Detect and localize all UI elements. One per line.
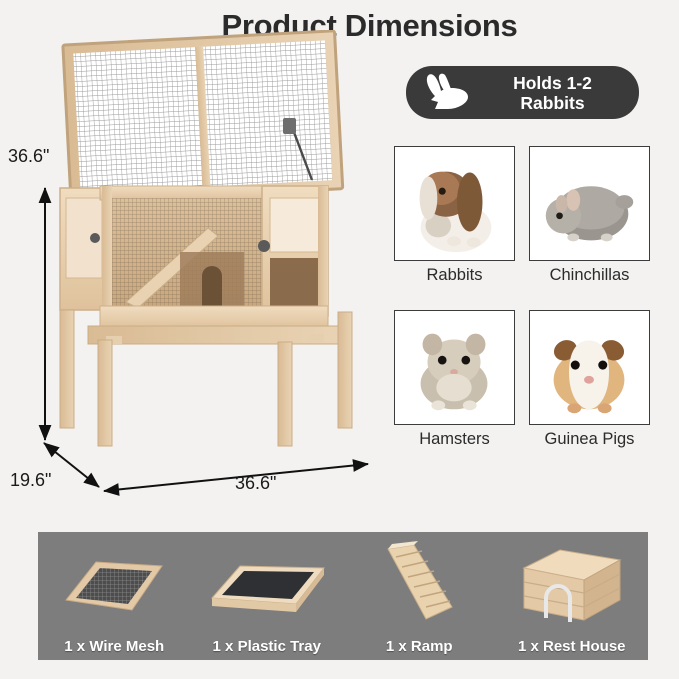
accessories-panel: 1 x Wire Mesh 1 x Plastic Tray — [38, 532, 648, 660]
animal-card-hamsters: Hamsters — [393, 310, 516, 466]
accessory-label: 1 x Plastic Tray — [213, 638, 321, 655]
capacity-badge-text: Holds 1-2 Rabbits — [474, 73, 639, 113]
plastic-tray-icon — [191, 532, 344, 638]
chinchilla-photo — [529, 146, 650, 261]
dimension-height-label: 36.6" — [8, 146, 49, 167]
guinea-pig-photo — [529, 310, 650, 425]
accessory-label: 1 x Wire Mesh — [64, 638, 164, 655]
capacity-badge-line2: Rabbits — [474, 93, 631, 113]
animal-card-guinea-pigs: Guinea Pigs — [528, 310, 651, 466]
accessory-label: 1 x Rest House — [518, 638, 626, 655]
animal-label: Hamsters — [419, 430, 490, 449]
animal-label: Chinchillas — [550, 266, 630, 285]
animal-label: Guinea Pigs — [545, 430, 635, 449]
rabbit-photo — [394, 146, 515, 261]
dimension-depth-label: 19.6" — [10, 470, 51, 491]
accessory-plastic-tray: 1 x Plastic Tray — [191, 532, 344, 660]
animal-card-rabbits: Rabbits — [393, 146, 516, 302]
infographic-canvas: Product Dimensions — [0, 0, 679, 679]
hamster-photo — [394, 310, 515, 425]
product-image-hutch — [40, 30, 380, 460]
rest-house-icon — [496, 532, 649, 638]
accessory-rest-house: 1 x Rest House — [496, 532, 649, 660]
dimension-width-label: 36.6" — [235, 473, 276, 494]
accessory-wire-mesh: 1 x Wire Mesh — [38, 532, 191, 660]
accessory-ramp: 1 x Ramp — [343, 532, 496, 660]
suitable-animals-grid: Rabbits Chinchillas — [393, 146, 651, 466]
animal-label: Rabbits — [427, 266, 483, 285]
wire-mesh-icon — [38, 532, 191, 638]
capacity-badge: Holds 1-2 Rabbits — [406, 66, 639, 119]
hutch-body — [60, 186, 340, 344]
hutch-open-lid — [63, 31, 343, 203]
animal-card-chinchillas: Chinchillas — [528, 146, 651, 302]
ramp-icon — [343, 532, 496, 638]
capacity-badge-line1: Holds 1-2 — [474, 73, 631, 93]
rabbit-head-icon — [418, 72, 474, 114]
lid-hinge — [283, 118, 296, 134]
accessory-label: 1 x Ramp — [386, 638, 453, 655]
